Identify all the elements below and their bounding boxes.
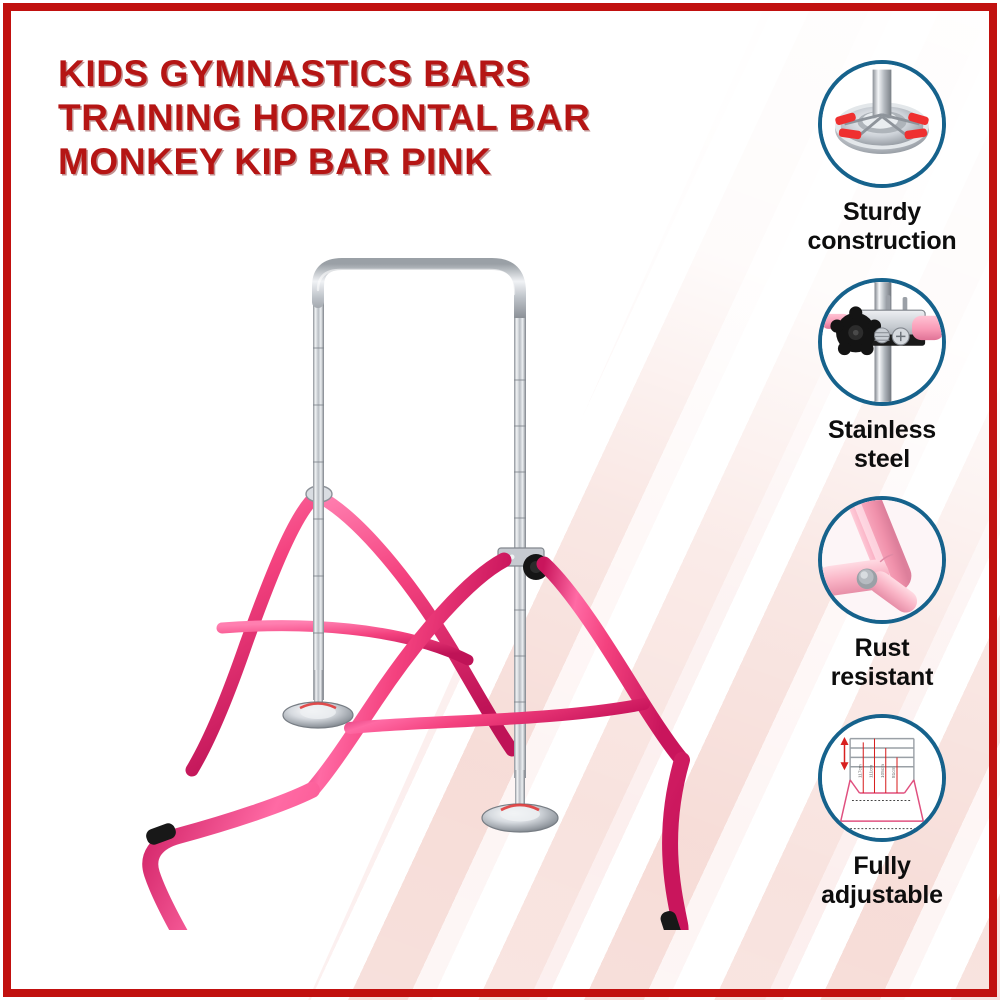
product-horizontal-bar bbox=[318, 264, 520, 326]
pink-tube-joint-photo-icon bbox=[818, 496, 946, 624]
clamp-knob-photo-icon bbox=[818, 278, 946, 406]
height-adjustment-diagram-icon: 117cm 111cm 105cm 81cm bbox=[818, 714, 946, 842]
feature-sturdy-construction: Sturdy construction bbox=[782, 60, 982, 256]
product-chrome-pole-left bbox=[283, 280, 353, 728]
svg-text:117cm: 117cm bbox=[857, 764, 862, 778]
svg-text:111cm: 111cm bbox=[869, 765, 874, 778]
page-title: KIDS GYMNASTICS BARS TRAINING HORIZONTAL… bbox=[58, 52, 678, 184]
title-line-1: KIDS GYMNASTICS BARS bbox=[58, 52, 678, 96]
product-poster: KIDS GYMNASTICS BARS TRAINING HORIZONTAL… bbox=[0, 0, 1000, 1000]
feature-fully-adjustable: 117cm 111cm 105cm 81cm Fully adjustable bbox=[782, 714, 982, 910]
product-pink-base-frame bbox=[144, 760, 683, 930]
product-pink-front-leg bbox=[312, 548, 682, 790]
title-line-2: TRAINING HORIZONTAL BAR bbox=[58, 96, 678, 140]
feature-label: Rust resistant bbox=[831, 634, 933, 692]
feature-stainless-steel: Stainless steel bbox=[782, 278, 982, 474]
feature-label: Fully adjustable bbox=[821, 852, 943, 910]
feature-list: Sturdy construction bbox=[782, 60, 982, 910]
svg-text:105cm: 105cm bbox=[880, 764, 885, 778]
feature-label: Stainless steel bbox=[828, 416, 936, 474]
feature-label: Sturdy construction bbox=[808, 198, 957, 256]
title-line-3: MONKEY KIP BAR PINK bbox=[58, 140, 678, 184]
product-image bbox=[60, 230, 760, 930]
base-plate-photo-icon bbox=[818, 60, 946, 188]
svg-text:81cm: 81cm bbox=[891, 766, 896, 778]
feature-rust-resistant: Rust resistant bbox=[782, 496, 982, 692]
